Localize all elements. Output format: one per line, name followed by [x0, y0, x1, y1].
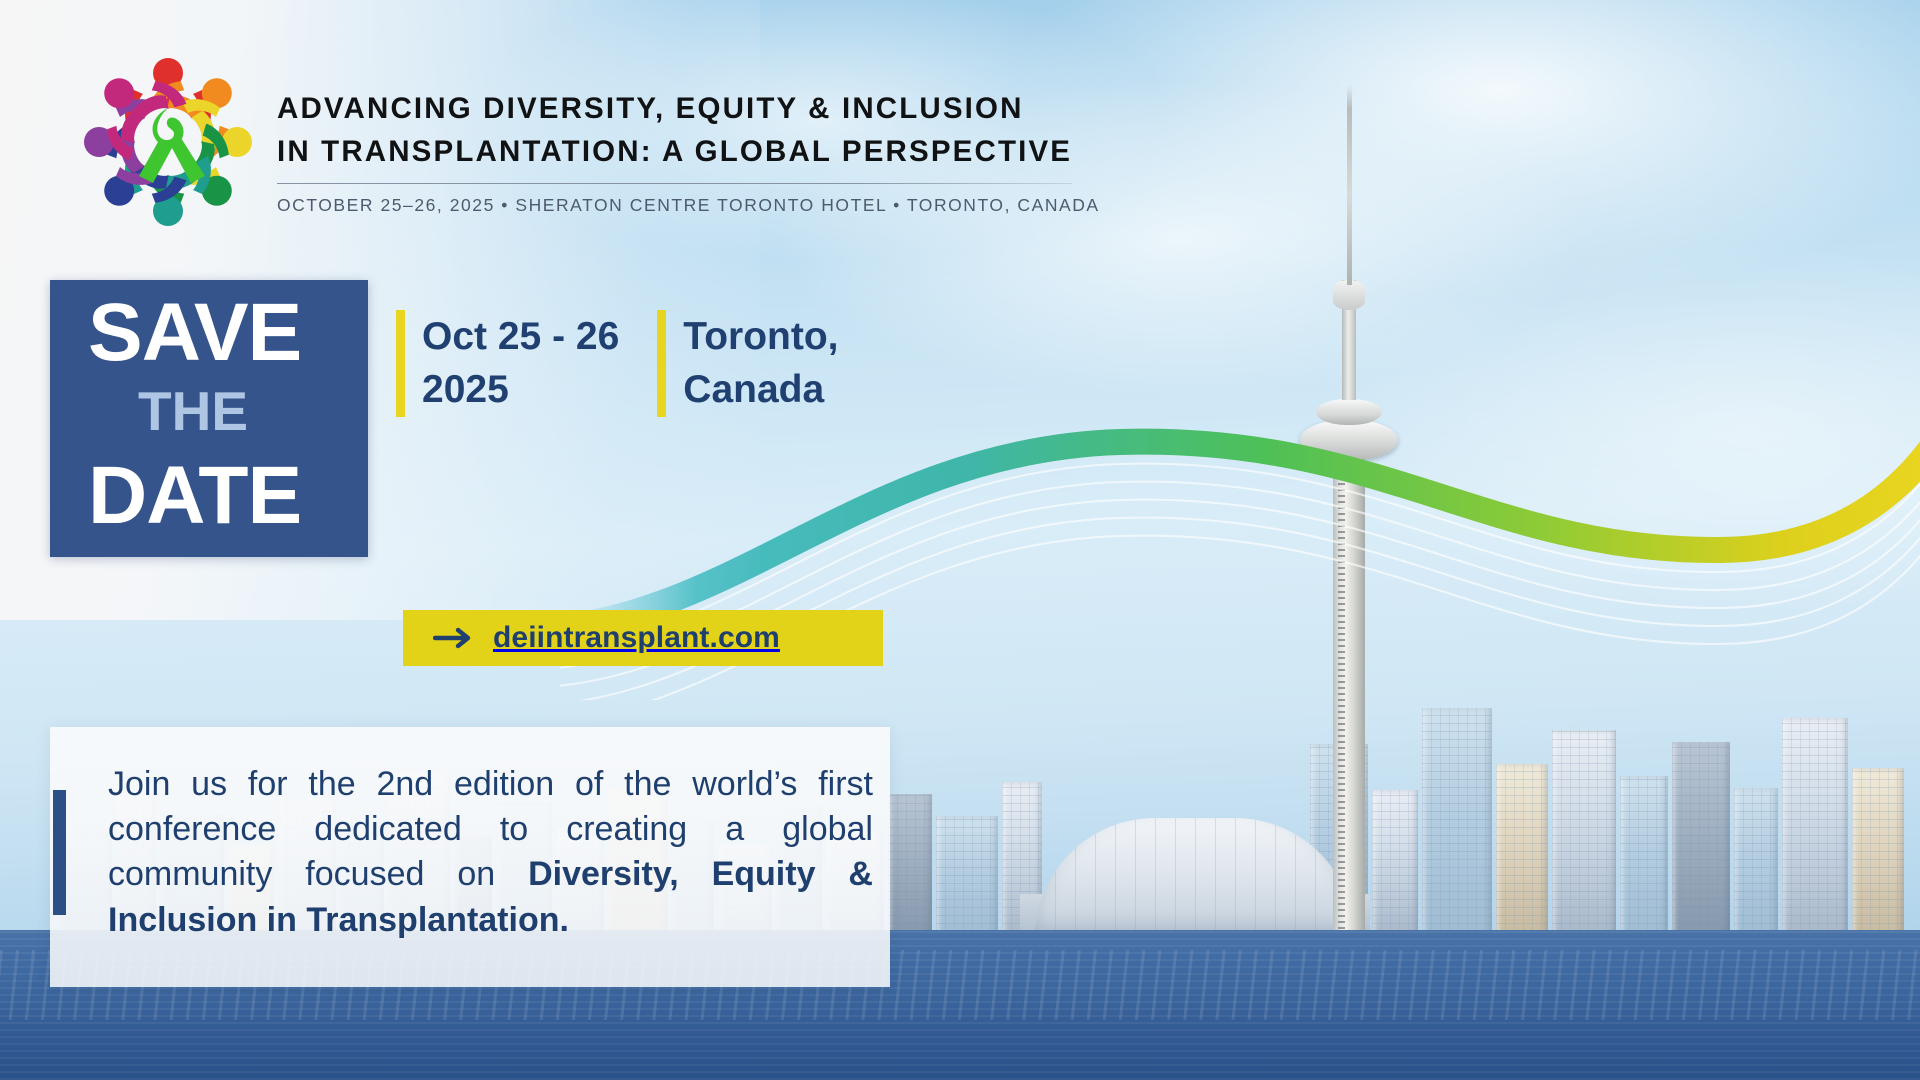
location-accent-bar: [657, 310, 666, 417]
save-the-date-panel: SAVE THE DATE: [50, 280, 368, 557]
event-info-row: Oct 25 - 26 2025 Toronto, Canada: [396, 310, 839, 417]
save-the-date-poster: ADVANCING DIVERSITY, EQUITY & INCLUSION …: [0, 0, 1920, 1080]
description-accent-bar: [53, 790, 66, 915]
website-cta-button[interactable]: deiintransplant.com: [403, 610, 883, 666]
event-date-text: Oct 25 - 26 2025: [422, 310, 619, 417]
event-title-block: ADVANCING DIVERSITY, EQUITY & INCLUSION …: [277, 88, 1087, 216]
cn-tower-antenna: [1347, 85, 1352, 285]
description-text: Join us for the 2nd edition of the world…: [108, 762, 873, 943]
date-accent-bar: [396, 310, 405, 417]
event-title-line-1: ADVANCING DIVERSITY, EQUITY & INCLUSION: [277, 88, 1087, 131]
event-subtitle: OCTOBER 25–26, 2025 • SHERATON CENTRE TO…: [277, 195, 1087, 216]
event-title-line-2: IN TRANSPLANTATION: A GLOBAL PERSPECTIVE: [277, 131, 1087, 174]
event-location-item: Toronto, Canada: [657, 310, 838, 417]
save-the-date-line-1: SAVE: [88, 292, 301, 374]
save-the-date-line-2: THE: [138, 384, 248, 439]
event-date-item: Oct 25 - 26 2025: [396, 310, 619, 417]
title-divider: [277, 183, 1072, 184]
save-the-date-line-3: DATE: [88, 455, 301, 537]
event-location-text: Toronto, Canada: [683, 310, 838, 417]
website-url-label: deiintransplant.com: [493, 621, 780, 655]
people-circle-ribbon-logo: [68, 42, 268, 242]
arrow-right-icon: [433, 627, 475, 649]
